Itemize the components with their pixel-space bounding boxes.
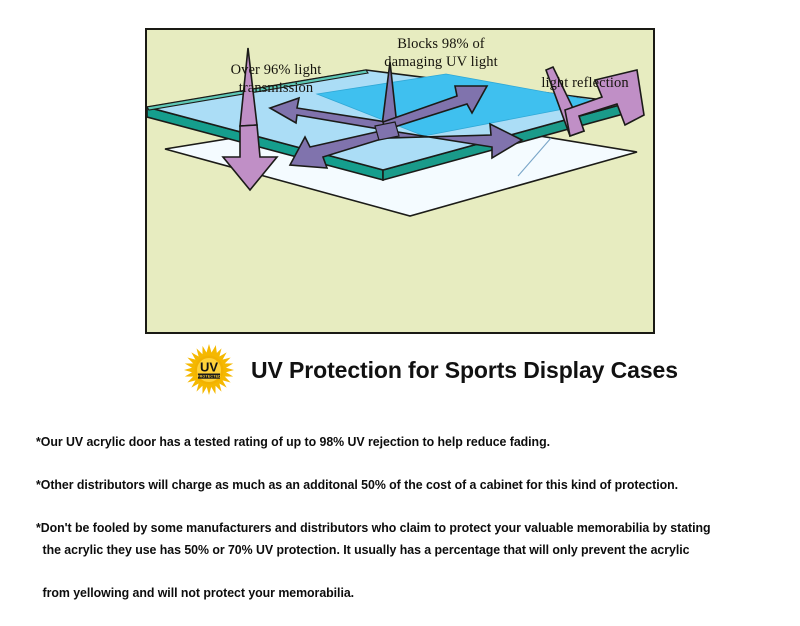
body-paragraph-3: *Don't be fooled by some manufacturers a… [36,496,724,626]
uv-sun-icon: UV PROTECTED [183,344,235,396]
title-row: UV PROTECTED UV Protection for Sports Di… [183,344,678,396]
uv-sun-icon-svg: UV PROTECTED [183,344,235,396]
uv-protection-infographic: .ol { stroke: #1b1b18; stroke-width: 1.6… [0,0,800,538]
body-line: *Other distributors will charge as much … [36,477,678,492]
body-paragraph-1: *Our UV acrylic door has a tested rating… [36,409,724,452]
body-line: *Our UV acrylic door has a tested rating… [36,434,550,449]
uv-logo-main-text: UV [200,360,218,375]
body-line: the acrylic they use has 50% or 70% UV p… [36,539,724,561]
label-light-reflection: light reflection [522,74,648,92]
body-line: *Don't be fooled by some manufacturers a… [36,520,711,535]
body-paragraph-2: *Other distributors will charge as much … [36,452,724,495]
uv-scatter-centre [375,122,399,140]
diagram-panel: .ol { stroke: #1b1b18; stroke-width: 1.6… [145,28,655,334]
body-copy: *Our UV acrylic door has a tested rating… [36,409,724,626]
label-blocks-uv: Blocks 98% of damaging UV light [369,35,513,71]
page-title: UV Protection for Sports Display Cases [251,357,678,384]
uv-logo-sub-text: PROTECTED [197,375,221,379]
label-light-transmission: Over 96% light transmission [211,61,341,97]
body-line: from yellowing and will not protect your… [36,582,724,604]
